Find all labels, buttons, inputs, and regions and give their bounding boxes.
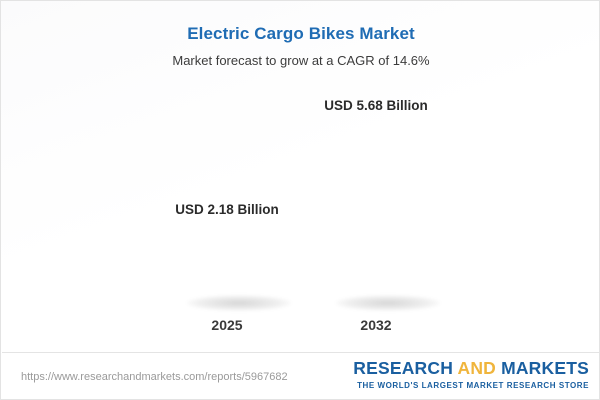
category-label-2032: 2032 <box>291 316 461 334</box>
bar-value-label-2032: USD 5.68 Billion <box>291 97 461 114</box>
bar-group-2032: USD 5.68 Billion 2032 <box>291 1 461 353</box>
bar-shadow-2025 <box>186 295 292 311</box>
source-url[interactable]: https://www.researchandmarkets.com/repor… <box>21 370 288 384</box>
bar-shadow-2032 <box>335 295 441 311</box>
logo-word-research: RESEARCH <box>353 358 453 378</box>
bar-group-2025: USD 2.18 Billion 2025 <box>142 1 312 353</box>
chart-footer: https://www.researchandmarkets.com/repor… <box>1 353 600 400</box>
logo-wordmark: RESEARCH AND MARKETS <box>353 358 589 379</box>
bar-value-label-2025: USD 2.18 Billion <box>142 201 312 218</box>
logo-word-and: AND <box>457 358 496 378</box>
category-label-2025: 2025 <box>142 316 312 334</box>
chart-plot-area: USD 2.18 Billion 2025 USD 5.68 Billion <box>1 1 600 353</box>
chart-card: Electric Cargo Bikes Market Market forec… <box>0 0 600 400</box>
logo-word-markets: MARKETS <box>501 358 589 378</box>
research-and-markets-logo[interactable]: RESEARCH AND MARKETS THE WORLD'S LARGEST… <box>353 358 589 391</box>
logo-tagline: THE WORLD'S LARGEST MARKET RESEARCH STOR… <box>353 380 589 391</box>
